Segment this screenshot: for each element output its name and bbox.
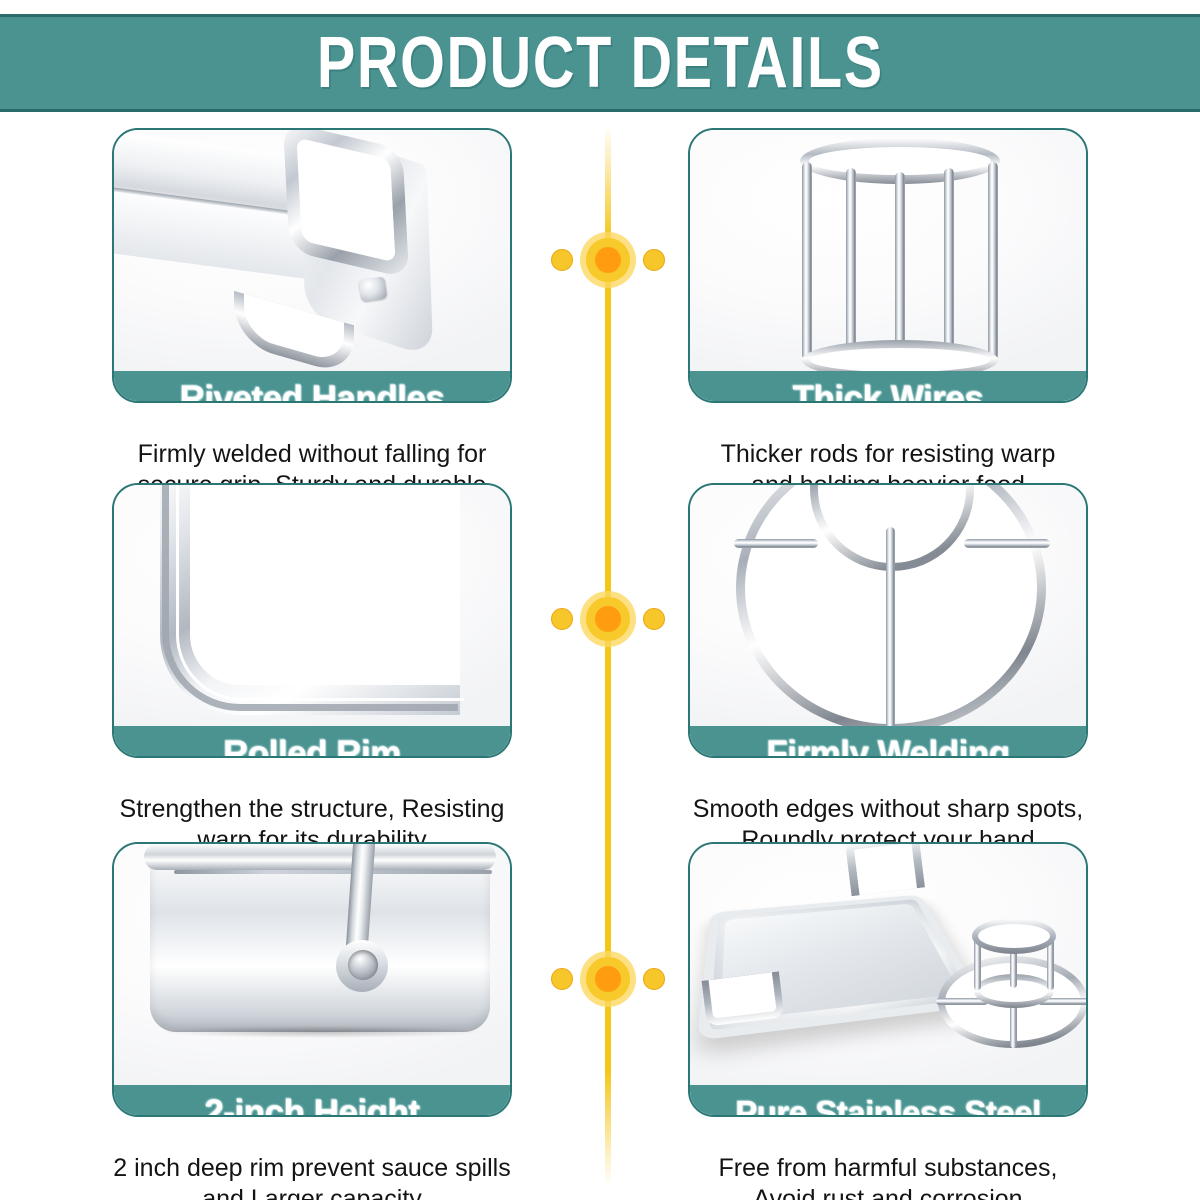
panel-label: Thick Wires: [793, 381, 984, 404]
node-core-icon: [595, 606, 621, 632]
node-satellite-right-icon: [643, 608, 665, 630]
panel-label: Pure Stainless Steel: [735, 1096, 1040, 1118]
panel-label-banner: Firmly Welding: [690, 726, 1086, 758]
feature-panel-firmly-welding: Firmly Welding Smooth edges without shar…: [688, 483, 1088, 855]
product-photo-thick-wires: [690, 130, 1086, 401]
product-photo-two-inch-height: [114, 844, 510, 1115]
feature-panel-riveted-handles: Riveted Handles Firmly welded without fa…: [112, 128, 512, 500]
panel-label: Rolled Rim: [223, 736, 401, 759]
product-photo-pure-stainless-steel: [690, 844, 1086, 1115]
node-core-icon: [595, 966, 621, 992]
feature-panel-thick-wires: Thick Wires Thicker rods for resisting w…: [688, 128, 1088, 500]
node-satellite-right-icon: [643, 968, 665, 990]
panel-label-banner: 2-inch Height: [114, 1085, 510, 1117]
node-satellite-left-icon: [551, 249, 573, 271]
node-satellite-right-icon: [643, 249, 665, 271]
panel-photo-frame: 2-inch Height: [112, 842, 512, 1117]
header-banner: PRODUCT DETAILS: [0, 14, 1200, 112]
panel-label-banner: Pure Stainless Steel: [690, 1085, 1086, 1117]
handle-rivet-hole-icon: [348, 950, 378, 980]
rivet-detail-icon: [359, 276, 388, 301]
product-details-infographic: PRODUCT DETAILS: [0, 0, 1200, 1200]
panel-caption: Free from harmful substances, Avoid rust…: [688, 1153, 1088, 1200]
node-core-icon: [595, 247, 621, 273]
panel-label: Riveted Handles: [180, 381, 445, 404]
page-title: PRODUCT DETAILS: [317, 27, 884, 99]
panel-photo-frame: Riveted Handles: [112, 128, 512, 403]
panel-photo-frame: Thick Wires: [688, 128, 1088, 403]
panel-photo-frame: Rolled Rim: [112, 483, 512, 758]
feature-panel-two-inch-height: 2-inch Height 2 inch deep rim prevent sa…: [112, 842, 512, 1200]
feature-panel-pure-stainless-steel: Pure Stainless Steel Free from harmful s…: [688, 842, 1088, 1200]
panel-caption: 2 inch deep rim prevent sauce spills and…: [112, 1153, 512, 1200]
node-satellite-left-icon: [551, 968, 573, 990]
panel-label-banner: Thick Wires: [690, 371, 1086, 403]
product-photo-rolled-rim: [114, 485, 510, 756]
node-satellite-left-icon: [551, 608, 573, 630]
panel-photo-frame: Firmly Welding: [688, 483, 1088, 758]
panel-label: Firmly Welding: [766, 736, 1009, 759]
feature-panel-rolled-rim: Rolled Rim Strengthen the structure, Res…: [112, 483, 512, 855]
product-photo-firmly-welding: [690, 485, 1086, 756]
panel-photo-frame: Pure Stainless Steel: [688, 842, 1088, 1117]
panel-label-banner: Rolled Rim: [114, 726, 510, 758]
panel-label: 2-inch Height: [204, 1095, 419, 1118]
panel-label-banner: Riveted Handles: [114, 371, 510, 403]
product-photo-riveted-handles: [114, 130, 510, 401]
